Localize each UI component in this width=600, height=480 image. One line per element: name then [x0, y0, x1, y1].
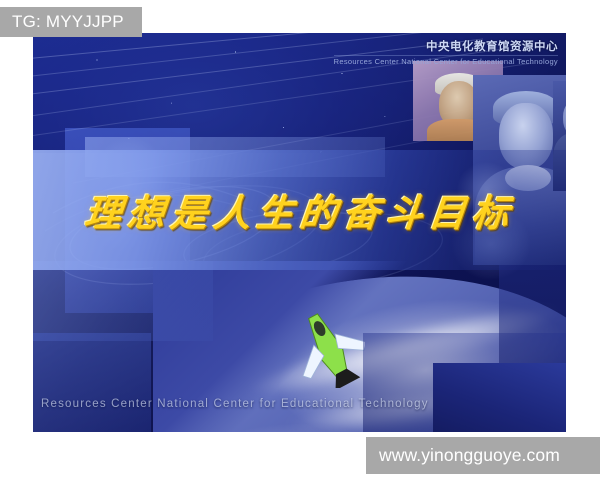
- presentation-slide: 中央电化教育馆资源中心 Resources Center National Ce…: [33, 33, 566, 432]
- watermark-telegram: TG: MYYJJPP: [0, 7, 142, 37]
- slide-footer-caption: Resources Center National Center for Edu…: [41, 398, 429, 410]
- overlay-panel-middle: [33, 261, 213, 341]
- slide-title: 理想是人生的奋斗目标: [82, 183, 518, 237]
- slide-header: 中央电化教育馆资源中心 Resources Center National Ce…: [334, 40, 558, 66]
- header-title-chinese: 中央电化教育馆资源中心: [334, 40, 558, 53]
- watermark-website-url: www.yinongguoye.com: [366, 437, 600, 474]
- green-aircraft-icon: [295, 308, 365, 388]
- header-subtitle-english: Resources Center National Center for Edu…: [334, 55, 558, 66]
- overlay-corner-dark: [433, 363, 566, 432]
- overlay-panel-bottom-left: [33, 333, 151, 432]
- slide-title-container: 理想是人生的奋斗目标: [33, 150, 566, 270]
